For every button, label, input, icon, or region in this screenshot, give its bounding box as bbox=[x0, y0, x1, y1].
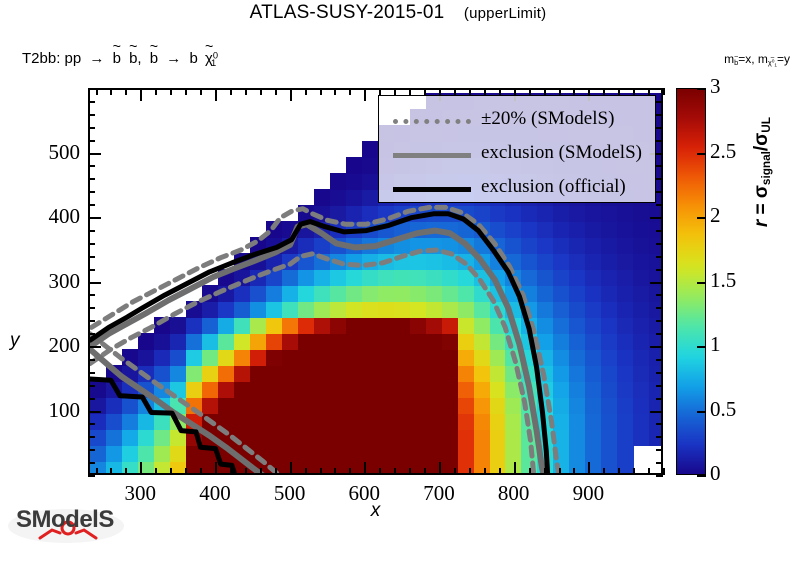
legend-box[interactable]: ±20% (SModelS)exclusion (SModelS)exclusi… bbox=[378, 95, 656, 203]
y-tick-label: 300 bbox=[10, 269, 80, 294]
title-qualifier: (upperLimit) bbox=[464, 5, 546, 22]
colorbar-tick bbox=[697, 346, 706, 348]
band-contour-lower bbox=[90, 334, 277, 473]
mass-definition-label: m~b=x, m~χ01=y bbox=[724, 52, 790, 67]
x-tick-top bbox=[663, 88, 665, 95]
y-tick-label: 100 bbox=[10, 398, 80, 423]
y-axis-title: y bbox=[10, 330, 20, 352]
legend-label: exclusion (SModelS) bbox=[481, 142, 642, 164]
colorbar-tick bbox=[697, 217, 706, 219]
sbottom-sub: ~b bbox=[734, 58, 738, 67]
colorbar-tick-label: 1.5 bbox=[710, 268, 736, 293]
logo-text: SModelS bbox=[16, 506, 114, 534]
colorbar-tick bbox=[697, 88, 706, 90]
colorbar-tick-label: 0 bbox=[710, 461, 721, 486]
colorbar-tick-label: 3 bbox=[710, 74, 721, 99]
legend-label: ±20% (SModelS) bbox=[481, 108, 614, 130]
y-tick-label: 200 bbox=[10, 333, 80, 358]
y-tick bbox=[88, 475, 95, 477]
smodels-exclusion-contour bbox=[90, 224, 544, 475]
legend-marker bbox=[393, 153, 471, 158]
arrow-icon: → bbox=[89, 50, 104, 67]
colorbar-title: r = σsignal/σUL bbox=[751, 187, 773, 227]
x-axis-title: x bbox=[88, 500, 663, 522]
x-tick bbox=[663, 468, 665, 475]
band-contour-inner bbox=[90, 250, 534, 473]
sbottom-3: ~b bbox=[150, 50, 158, 67]
colorbar-tick bbox=[697, 282, 706, 284]
colorbar-tick-label: 2 bbox=[710, 203, 721, 228]
plot-canvas: ATLAS-SUSY-2015-01 (upperLimit) T2bb: pp… bbox=[0, 0, 796, 572]
smodels-exclusion-contour-lower bbox=[90, 349, 263, 475]
legend-row[interactable]: exclusion (SModelS) bbox=[379, 136, 657, 172]
legend-marker bbox=[393, 187, 471, 192]
page-title: ATLAS-SUSY-2015-01 (upperLimit) bbox=[0, 2, 796, 24]
title-main: ATLAS-SUSY-2015-01 bbox=[250, 2, 445, 23]
y-tick-label: 500 bbox=[10, 140, 80, 165]
chi-sub: ~χ01 bbox=[768, 58, 777, 67]
smodels-logo: SModelS bbox=[6, 500, 130, 556]
y-tick-label: 400 bbox=[10, 204, 80, 229]
colorbar-tick bbox=[697, 475, 706, 477]
comma: , bbox=[137, 50, 141, 67]
sbottom-1: ~b bbox=[113, 50, 121, 67]
sbottom-2: ~b bbox=[129, 50, 137, 67]
legend-label: exclusion (official) bbox=[481, 176, 626, 198]
y-tick-right bbox=[656, 475, 663, 477]
process-prefix: T2bb: pp bbox=[22, 50, 81, 67]
m-symbol-2: m bbox=[758, 52, 768, 66]
colorbar-tick-label: 0.5 bbox=[710, 397, 736, 422]
neutralino: ~χ bbox=[205, 50, 213, 67]
legend-row[interactable]: exclusion (official) bbox=[379, 170, 657, 206]
eq-y: =y bbox=[777, 52, 790, 66]
legend-marker bbox=[393, 119, 471, 124]
eq-x: =x, bbox=[738, 52, 754, 66]
colorbar-tick-label: 2.5 bbox=[710, 139, 736, 164]
official-exclusion-contour bbox=[90, 214, 548, 475]
arrow-icon-2: → bbox=[166, 50, 181, 67]
process-label: T2bb: pp → ~b ~b, ~b → b ~χ01 bbox=[22, 50, 216, 68]
colorbar-tick-label: 1 bbox=[710, 332, 721, 357]
official-exclusion-contour-lower bbox=[90, 379, 236, 475]
colorbar-tick bbox=[697, 153, 706, 155]
colorbar-tick bbox=[697, 411, 706, 413]
legend-row[interactable]: ±20% (SModelS) bbox=[379, 102, 657, 138]
bquark: b bbox=[189, 50, 197, 67]
m-symbol: m bbox=[724, 52, 734, 66]
